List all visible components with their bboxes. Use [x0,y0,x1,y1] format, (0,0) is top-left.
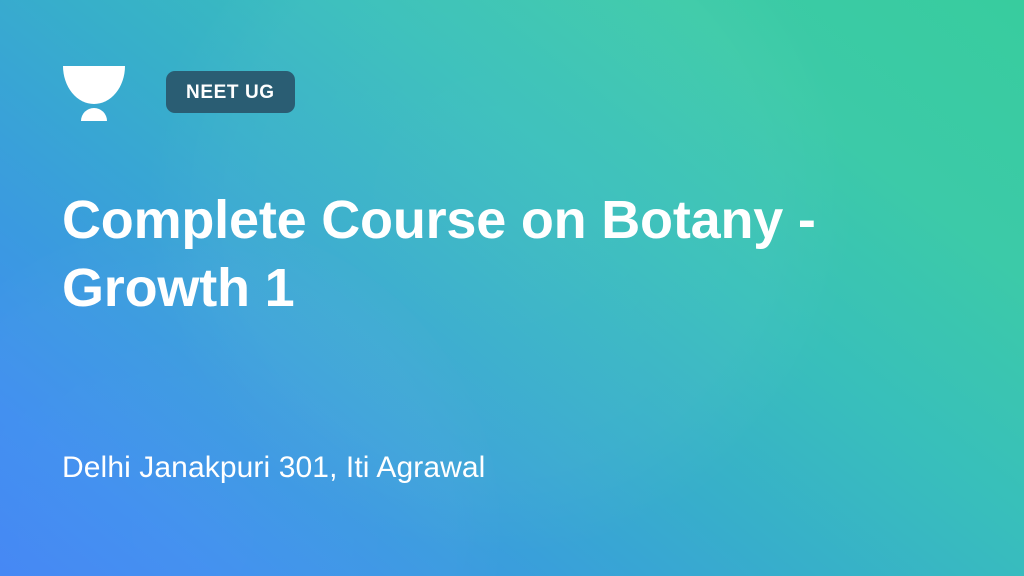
brand-logo[interactable] [62,62,126,122]
course-title: Complete Course on Botany - Growth 1 [62,186,892,322]
category-badge[interactable]: NEET UG [166,71,295,113]
cover-header: NEET UG [62,62,295,122]
course-cover-card: NEET UG Complete Course on Botany - Grow… [0,0,1024,576]
cover-content: NEET UG Complete Course on Botany - Grow… [0,0,1024,576]
unacademy-chalice-icon [62,62,126,122]
course-subtitle: Delhi Janakpuri 301, Iti Agrawal [62,448,922,488]
